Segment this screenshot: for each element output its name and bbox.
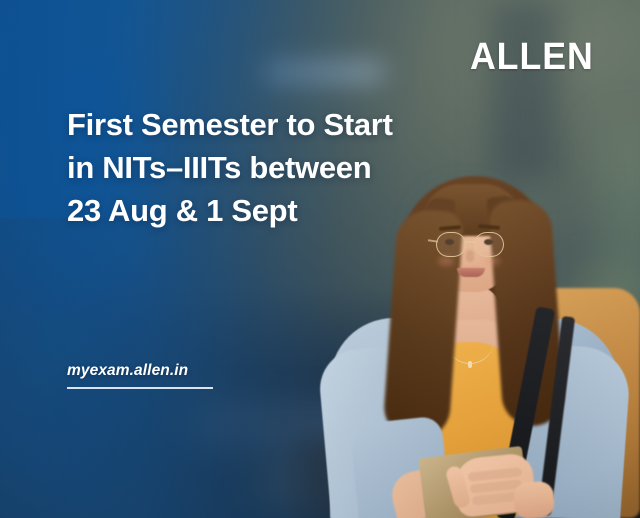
necklace-pendant (468, 361, 472, 368)
headline-line-2: in NITs–IIITs between (67, 147, 393, 190)
glasses-lens-right (474, 232, 504, 257)
promo-banner: ALLEN First Semester to Start in NITs–II… (0, 0, 640, 518)
headline-line-1: First Semester to Start (67, 104, 393, 147)
cheek-left (438, 256, 454, 266)
nose (466, 250, 474, 262)
allen-logo: ALLEN (470, 38, 594, 76)
glasses-lens-left (436, 232, 466, 257)
headline-line-3: 23 Aug & 1 Sept (67, 190, 393, 233)
headline: First Semester to Start in NITs–IIITs be… (67, 104, 393, 232)
cheek-right (484, 256, 500, 266)
website-url-underline (67, 387, 213, 389)
website-url[interactable]: myexam.allen.in (67, 362, 213, 389)
glasses-bridge (466, 241, 476, 243)
wrist-right (513, 481, 555, 518)
website-url-text[interactable]: myexam.allen.in (67, 362, 188, 385)
